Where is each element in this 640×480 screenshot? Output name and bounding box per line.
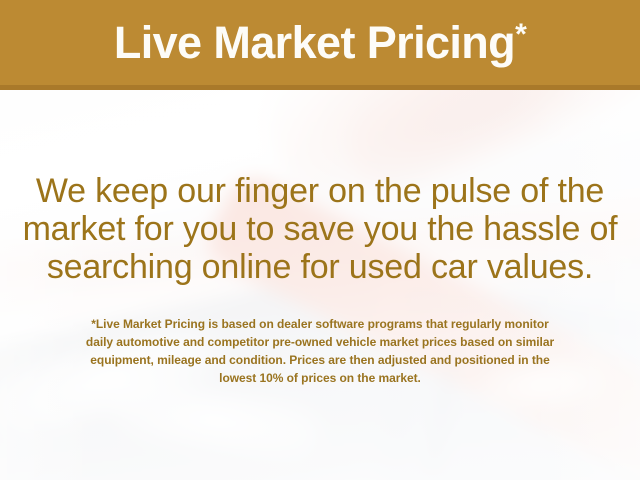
disclaimer-line-2: daily automotive and competitor pre-owne… (0, 333, 640, 351)
header-band: Live Market Pricing* (0, 0, 640, 89)
disclaimer-line-4: lowest 10% of prices on the market. (0, 369, 640, 387)
header-band-bottom-edge (0, 85, 640, 90)
headline-line-2: market for you to save you the hassle of (0, 210, 640, 248)
headline-block: We keep our finger on the pulse of the m… (0, 172, 640, 286)
page-title: Live Market Pricing* (114, 20, 526, 65)
disclaimer-block: *Live Market Pricing is based on dealer … (0, 315, 640, 387)
live-market-pricing-promo-card: Live Market Pricing* We keep our finger … (0, 0, 640, 480)
page-title-asterisk: * (515, 18, 526, 51)
disclaimer-line-3: equipment, mileage and condition. Prices… (0, 351, 640, 369)
headline-line-3: searching online for used car values. (0, 248, 640, 286)
headline-line-1: We keep our finger on the pulse of the (0, 172, 640, 210)
disclaimer-line-1: *Live Market Pricing is based on dealer … (0, 315, 640, 333)
page-title-text: Live Market Pricing (114, 17, 515, 68)
